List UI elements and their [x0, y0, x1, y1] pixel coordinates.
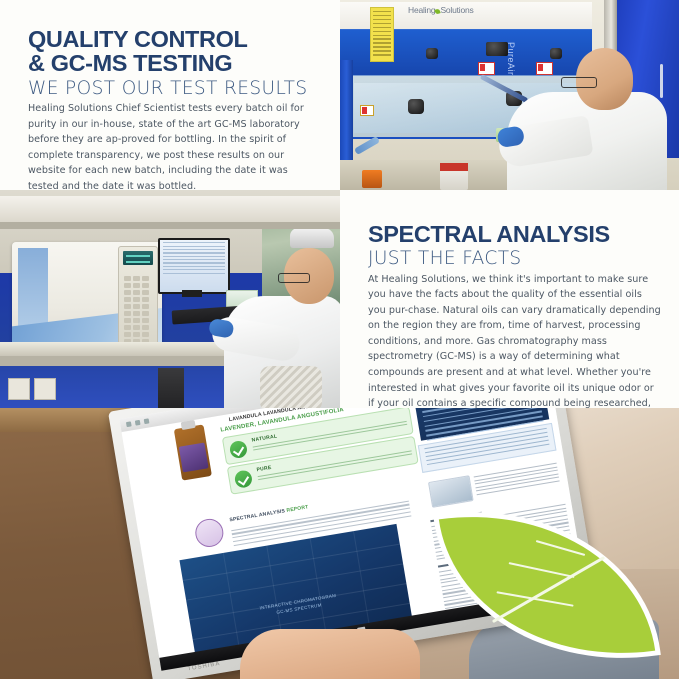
quality-control-heading-line2: & GC-MS TESTING: [28, 51, 320, 75]
monitor-screen: [160, 240, 228, 292]
check-circle-icon: [234, 469, 254, 489]
sash-caution-sticker: [360, 105, 374, 116]
quality-control-section: QUALITY CONTROL & GC-MS TESTING WE POST …: [0, 0, 340, 190]
quality-control-body: Healing Solutions Chief Scientist tests …: [28, 101, 320, 194]
scientist-figure: [497, 48, 667, 190]
monitor-stand: [182, 290, 202, 297]
browser-forward-icon[interactable]: [135, 420, 141, 426]
leaf-logo: [449, 505, 645, 665]
red-cap-jar: [440, 163, 468, 190]
workstation-monitor: [158, 238, 230, 294]
spectral-analysis-heading: SPECTRAL ANALYSIS: [368, 222, 662, 246]
spectral-analysis-body: At Healing Solutions, we think it's impo…: [368, 272, 662, 427]
spectral-analysis-subheading: JUST THE FACTS: [368, 249, 662, 269]
keypad-buttons[interactable]: [123, 275, 153, 347]
computer-tower: [158, 368, 184, 408]
lab-bench-top: [0, 342, 236, 356]
wall-outlet-2: [34, 378, 56, 400]
gcms-scientist-figure: [224, 248, 340, 408]
wall-outlet-1: [8, 378, 30, 400]
browser-reload-icon[interactable]: [144, 418, 150, 424]
gcms-blue-glove: [208, 318, 235, 339]
report-note-text: [473, 461, 560, 498]
hand-holding-tablet: [240, 629, 420, 679]
hood-brand-word2: Solutions: [440, 5, 473, 15]
bottle-cap: [181, 420, 196, 430]
verification-seal-icon: [193, 517, 225, 549]
report-section-heading-accent: REPORT: [286, 504, 309, 514]
instrument-display: [123, 251, 153, 265]
gcms-safety-glasses-icon: [278, 273, 310, 283]
quality-control-heading-line1: QUALITY CONTROL: [28, 27, 320, 51]
safety-glasses-icon: [561, 77, 597, 88]
quality-control-subheading: WE POST OUR TEST RESULTS: [28, 79, 320, 99]
sash-grip-1: [408, 99, 424, 114]
leaf-icon: [439, 492, 655, 678]
tablet-photo: TOSHIBA LAVANDULA LAVANDULA ANGUSTIFOLIA…: [0, 408, 679, 679]
orange-reagent-bottle: [362, 170, 382, 188]
hood-brand-word1: Healing: [408, 5, 435, 15]
spectral-analysis-section: SPECTRAL ANALYSIS JUST THE FACTS At Heal…: [340, 190, 679, 408]
gcms-photo: [0, 190, 340, 408]
hood-knob-1: [426, 48, 438, 59]
bottle-label: [179, 443, 209, 473]
overhead-shelf: [0, 196, 340, 222]
parked-car: [290, 228, 334, 248]
fume-hood-photo: HealingSolutions PureAir: [340, 0, 679, 190]
lab-chair: [260, 366, 322, 408]
oil-bottle-image: [174, 424, 212, 480]
hood-warning-sticker-1: [478, 62, 495, 75]
instrument-keypad[interactable]: [118, 246, 158, 354]
check-circle-icon: [229, 440, 249, 460]
fume-hood-brand-label: HealingSolutions: [408, 5, 474, 15]
report-thumbnail-image: [428, 475, 474, 508]
hazard-label: [370, 7, 394, 62]
blue-glove: [496, 125, 525, 148]
chart-caption: INTERACTIVE CHROMATOGRAM GC-MS SPECTRUM: [259, 593, 338, 619]
infographic-page: QUALITY CONTROL & GC-MS TESTING WE POST …: [0, 0, 679, 679]
shelf-underside: [0, 222, 340, 229]
browser-back-icon[interactable]: [126, 421, 132, 427]
